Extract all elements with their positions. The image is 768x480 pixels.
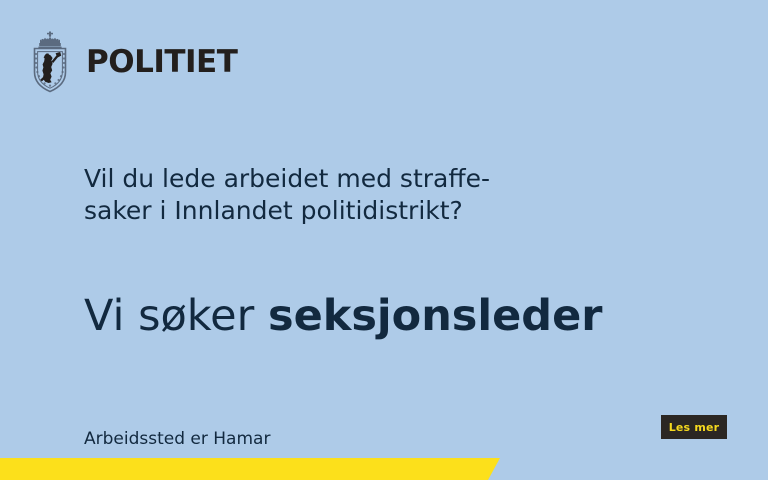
accent-stripe: [0, 458, 500, 480]
read-more-label: Les mer: [669, 422, 720, 433]
read-more-button[interactable]: Les mer: [661, 415, 727, 439]
headline-strong-part: seksjonsleder: [268, 291, 603, 341]
work-location-text: Arbeidssted er Hamar: [84, 429, 270, 449]
politiet-logo: POLITIET: [26, 31, 237, 93]
recruitment-banner: POLITIET Vil du lede arbeidet med straff…: [0, 0, 768, 480]
kicker-text: Vil du lede arbeidet med straffe- saker …: [84, 163, 564, 227]
page-title: Vi søker seksjonsleder: [84, 293, 602, 340]
politiet-wordmark: POLITIET: [86, 47, 237, 78]
headline-light-part: Vi søker: [84, 291, 268, 341]
norwegian-coat-of-arms-icon: [26, 31, 74, 93]
